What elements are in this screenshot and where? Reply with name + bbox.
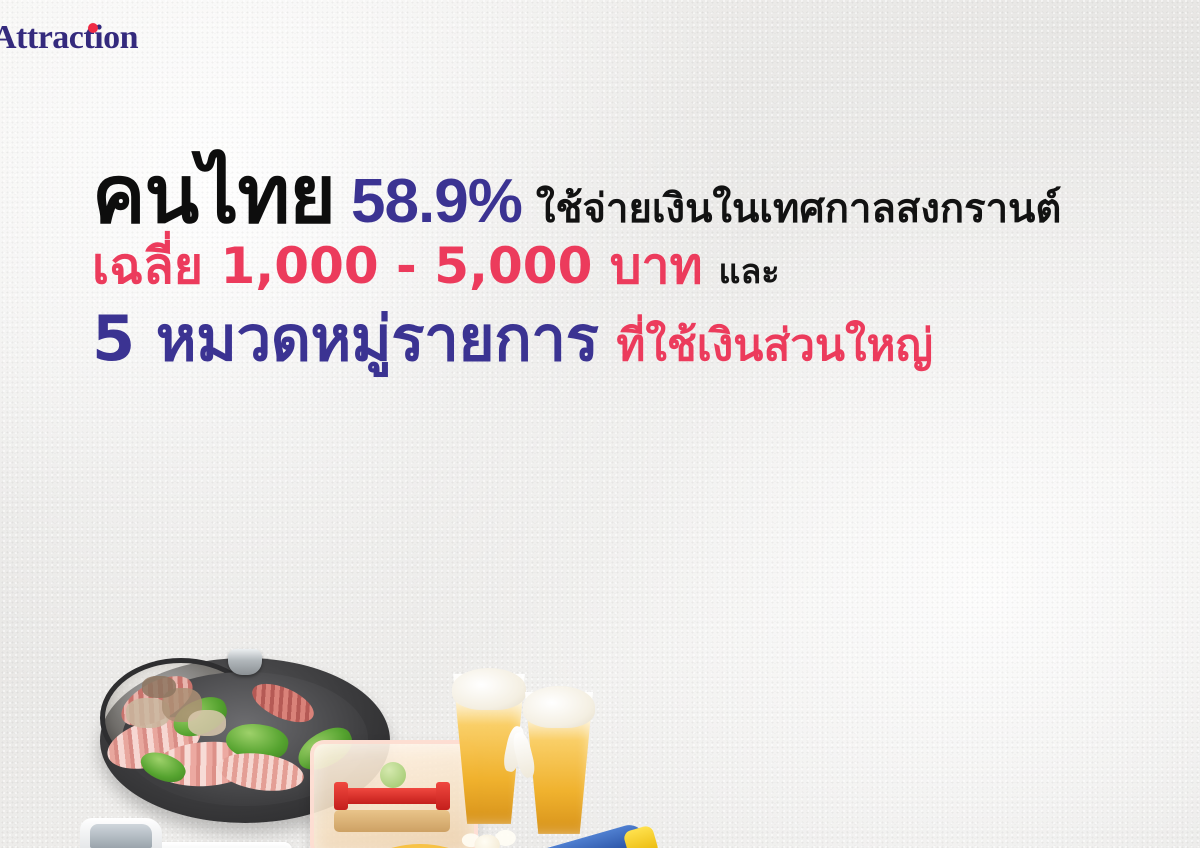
headline-average-range: เฉลี่ย 1,000 - 5,000 บาท — [92, 240, 703, 293]
truck-window — [90, 824, 152, 848]
headline-line-1: คนไทย 58.9% ใช้จ่ายเงินในเทศกาลสงกรานต์ — [92, 154, 1152, 236]
infographic-poster: THE Attraction คนไทย 58.9% ใช้จ่ายเงินใน… — [0, 0, 1200, 848]
headline-line-2: เฉลี่ย 1,000 - 5,000 บาท และ — [92, 240, 1152, 298]
container-bread — [334, 810, 450, 832]
brand-name-text: Attraction — [0, 19, 138, 56]
beer-foam — [523, 686, 594, 728]
headline-block: คนไทย 58.9% ใช้จ่ายเงินในเทศกาลสงกรานต์ … — [92, 154, 1152, 380]
headline-conjunction: และ — [719, 244, 780, 298]
product-collage: GUN — [60, 630, 660, 848]
headline-categories-suffix: ที่ใช้เงินส่วนใหญ่ — [616, 310, 933, 380]
headline-thai-lead: คนไทย — [92, 154, 335, 236]
container-vegetable — [380, 762, 406, 788]
lid-knob — [228, 649, 262, 675]
flower-icon — [252, 844, 296, 848]
water-gun-icon: GUN — [490, 826, 658, 848]
brand-wordmark: Attraction — [0, 22, 138, 54]
headline-thai-tail: ใช้จ่ายเงินในเทศกาลสงกรานต์ — [536, 189, 1062, 229]
beer-foam — [452, 668, 527, 710]
headline-categories-count: 5 หมวดหมู่รายการ — [92, 306, 598, 371]
brand-red-dot-icon — [88, 23, 98, 33]
pickup-truck-icon — [70, 808, 300, 848]
brand-logo: THE Attraction — [0, 22, 1178, 54]
soup-ingredient — [188, 710, 226, 736]
container-red-item — [338, 788, 446, 804]
beer-glass-icon — [522, 692, 596, 834]
headline-line-3: 5 หมวดหมู่รายการ ที่ใช้เงินส่วนใหญ่ — [92, 306, 1152, 380]
soup-ingredient — [142, 676, 176, 698]
headline-percent: 58.9% — [351, 171, 522, 233]
